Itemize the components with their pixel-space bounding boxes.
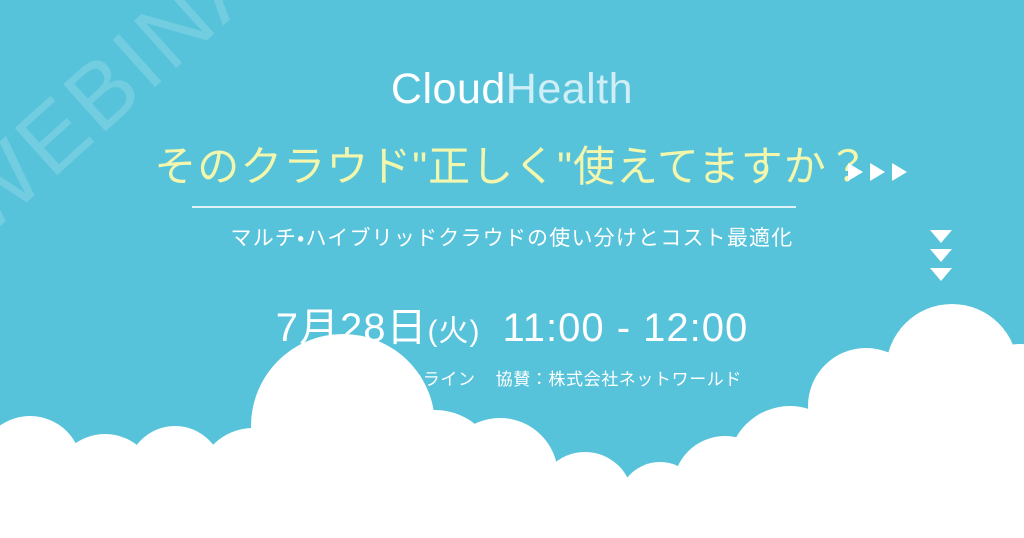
arrow-down-group: [930, 230, 952, 281]
triangle-right-icon: [870, 163, 885, 181]
arrow-right-group: [848, 163, 907, 181]
logo-word-health: Health: [506, 65, 633, 113]
event-sponsor: 協賛：株式会社ネットワールド: [496, 370, 742, 389]
webinar-banner: WEBINAR: [0, 0, 1024, 538]
triangle-down-icon: [930, 230, 952, 243]
triangle-down-icon: [930, 249, 952, 262]
event-time: 11:00 - 12:00: [502, 306, 748, 350]
triangle-right-icon: [892, 163, 907, 181]
event-date: 7月28日: [276, 306, 428, 350]
host-line: 主催：クララオンライン協賛：株式会社ネットワールド: [0, 369, 1024, 391]
triangle-right-icon: [848, 163, 863, 181]
banner-content: CloudHealth そのクラウド"正しく"使えてますか？ マルチ・ハイブリッ…: [0, 0, 1024, 538]
divider-line: [192, 206, 796, 208]
event-weekday: (火): [427, 315, 480, 348]
logo-word-cloud: Cloud: [391, 65, 506, 113]
event-organizer: 主催：クララオンライン: [282, 370, 476, 389]
subtitle-text: マルチ・ハイブリッドクラウドの使い分けとコスト最適化: [0, 225, 1024, 252]
triangle-down-icon: [930, 268, 952, 281]
cloudhealth-logo: CloudHealth: [0, 68, 1024, 111]
event-datetime: 7月28日(火)11:00 - 12:00: [0, 306, 1024, 350]
